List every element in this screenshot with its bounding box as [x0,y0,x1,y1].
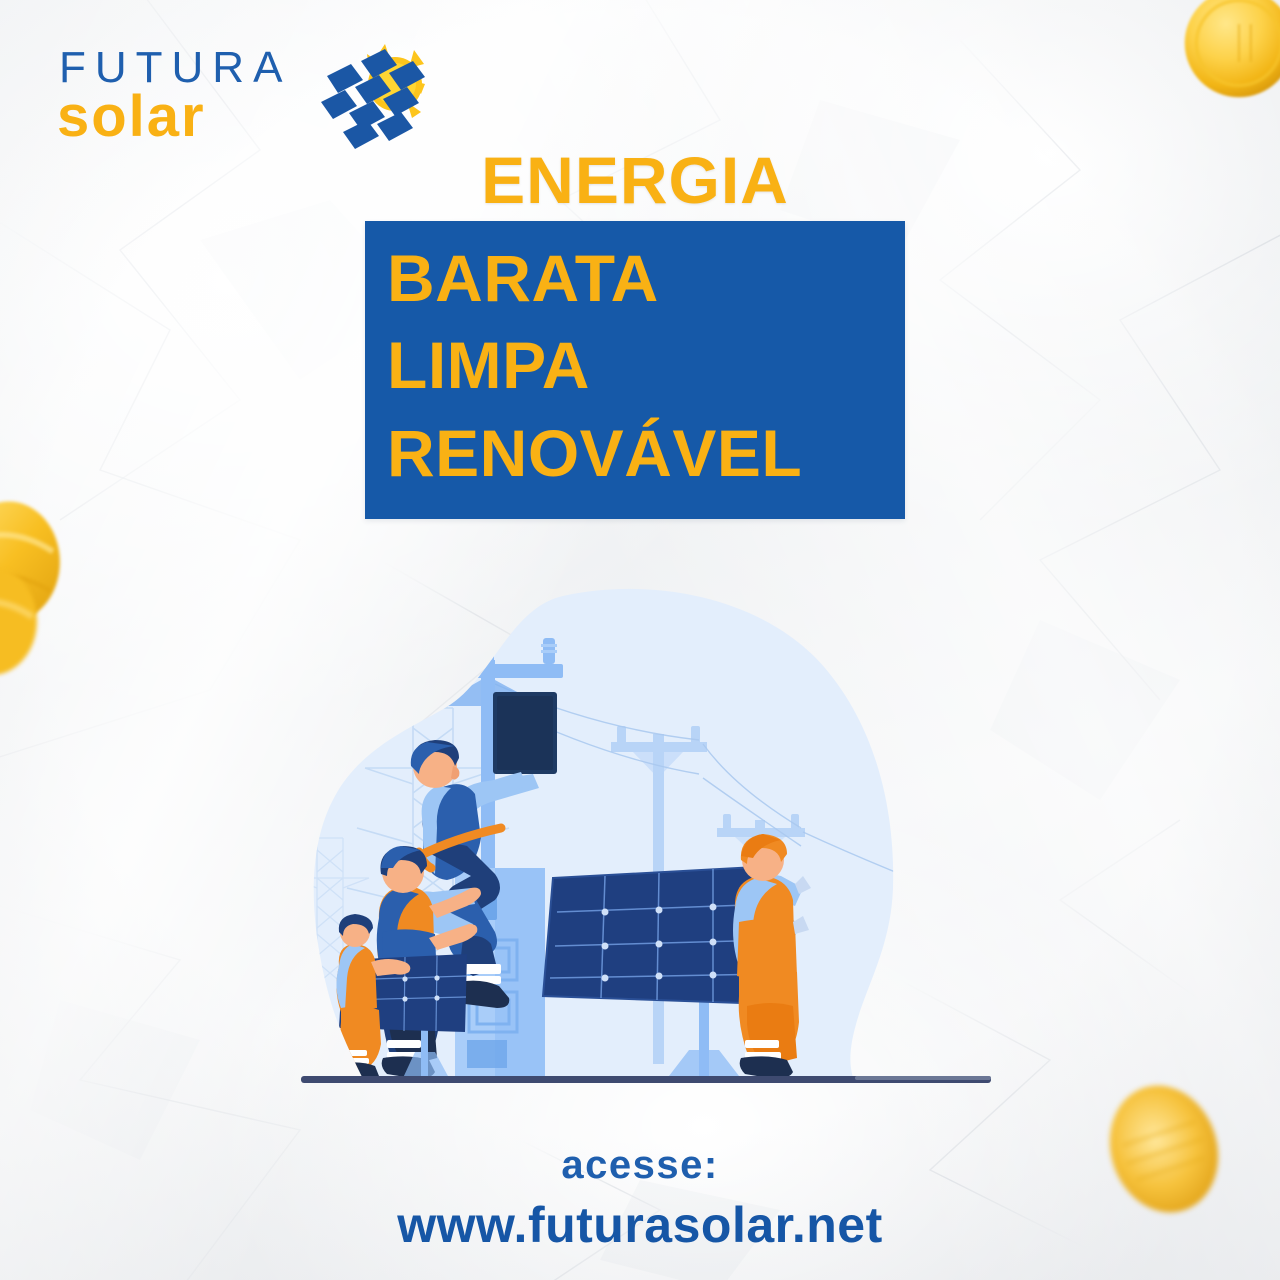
headline-line-renovavel: RENOVÁVEL [365,410,905,497]
headline-line-barata: BARATA [365,235,905,322]
logo-wordmark-solar: solar [57,88,206,146]
ground-line [301,1076,991,1083]
headline-blue-box: BARATA LIMPA RENOVÁVEL [365,221,905,518]
footer-contact: acesse: www.futurasolar.net [0,1138,1280,1260]
headline-line-limpa: LIMPA [365,322,905,409]
brand-logo[interactable]: FUTURA solar [55,24,385,149]
headline-block: ENERGIA BARATA LIMPA RENOVÁVEL [365,146,905,519]
sun-and-solar-panel-icon [317,40,427,152]
poster-canvas: FUTURA solar [0,0,1280,1280]
illustration-svg [295,588,995,1088]
footer-acesse-label: acesse: [0,1138,1280,1192]
illustration-solar-workers [295,588,995,1088]
footer-website-url[interactable]: www.futurasolar.net [0,1192,1280,1260]
headline-line-energia: ENERGIA [365,146,905,215]
